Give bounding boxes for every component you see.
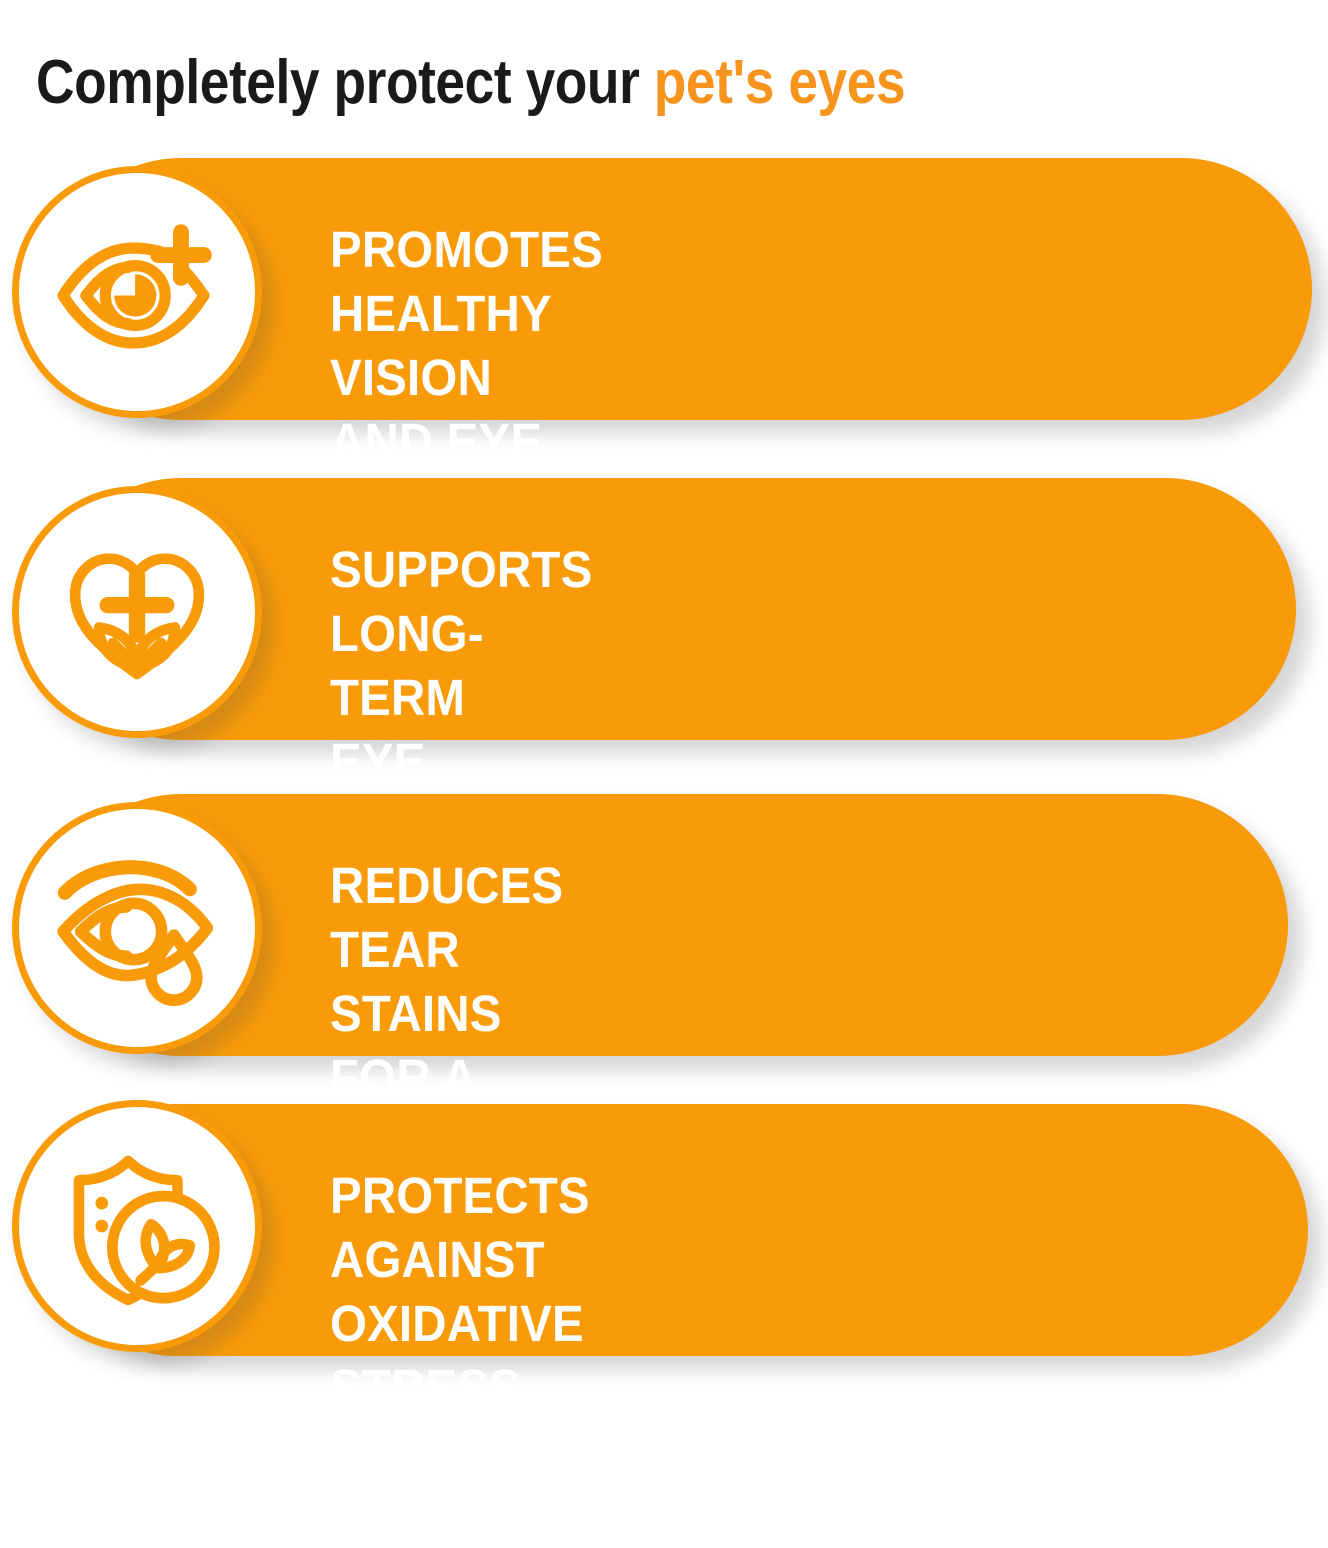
benefit-icon-disc-4 bbox=[12, 1100, 262, 1352]
benefit-list: PROMOTES HEALTHY VISION AND EYE FUNCTION bbox=[0, 0, 1328, 1383]
eye-plus-icon bbox=[49, 204, 225, 380]
benefit-icon-disc-2 bbox=[12, 486, 262, 738]
shield-leaf-icon bbox=[49, 1138, 225, 1314]
heart-cross-leaves-icon bbox=[51, 526, 223, 698]
eye-teardrop-icon bbox=[49, 840, 225, 1016]
benefit-icon-disc-1 bbox=[12, 166, 262, 418]
benefit-icon-disc-3 bbox=[12, 802, 262, 1054]
benefit-label-4: PROTECTS AGAINST OXIDATIVE STRESS AND DA… bbox=[330, 1164, 590, 1548]
